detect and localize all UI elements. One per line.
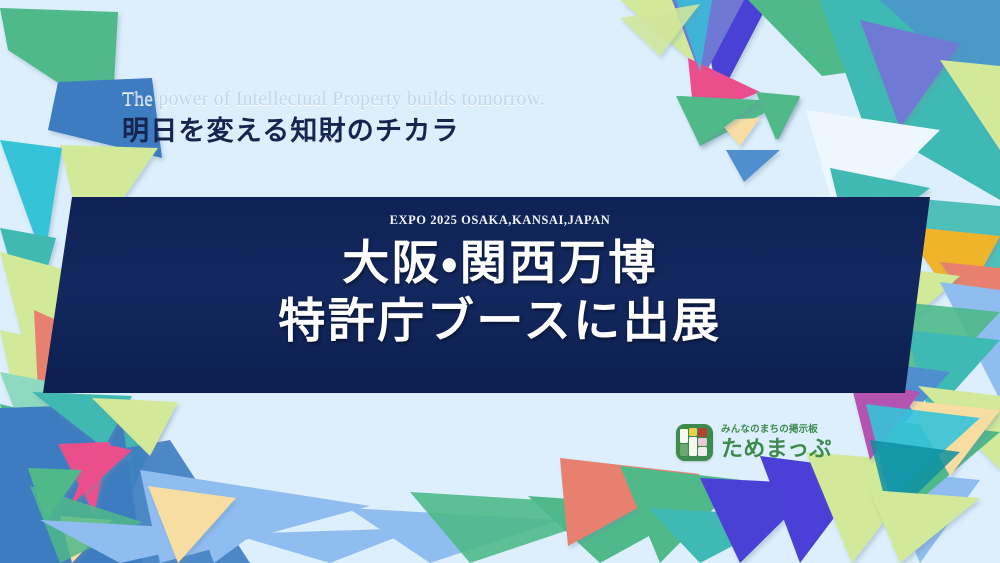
logo-tile [680,429,688,443]
logo-tile [698,447,707,456]
banner-title-line2: 特許庁ブースに出展 [278,292,721,350]
logo-tile [689,437,697,456]
headline-english: The power of Intellectual Property build… [122,88,545,112]
logo-tile [680,444,688,456]
headline-japanese: 明日を変える知財のチカラ [122,114,545,149]
banner-title-line1: 大阪・関西万博 [342,236,657,289]
banner-kicker-expo-label: EXPO 2025 OSAKA,KANSAI,JAPAN [390,213,611,228]
logo-tile [698,428,707,437]
logo-text-block: みんなのまちの掲示板 ためまっぷ [721,425,832,460]
poster-canvas: The power of Intellectual Property build… [0,0,1000,563]
tamemap-logo-lockup[interactable]: みんなのまちの掲示板 ためまっぷ [676,424,832,461]
logo-name: ためまっぷ [721,438,832,460]
logo-tagline: みんなのまちの掲示板 [721,425,832,435]
tamemap-tile-grid-icon [676,424,713,461]
logo-tile [689,428,697,436]
headline-block: The power of Intellectual Property build… [122,88,545,149]
banner-title: 大阪・関西万博 特許庁ブースに出展 [278,234,721,351]
banner-content: EXPO 2025 OSAKA,KANSAI,JAPAN 大阪・関西万博 特許庁… [0,197,1000,393]
logo-tile [698,438,707,446]
main-banner: EXPO 2025 OSAKA,KANSAI,JAPAN 大阪・関西万博 特許庁… [0,197,1000,393]
